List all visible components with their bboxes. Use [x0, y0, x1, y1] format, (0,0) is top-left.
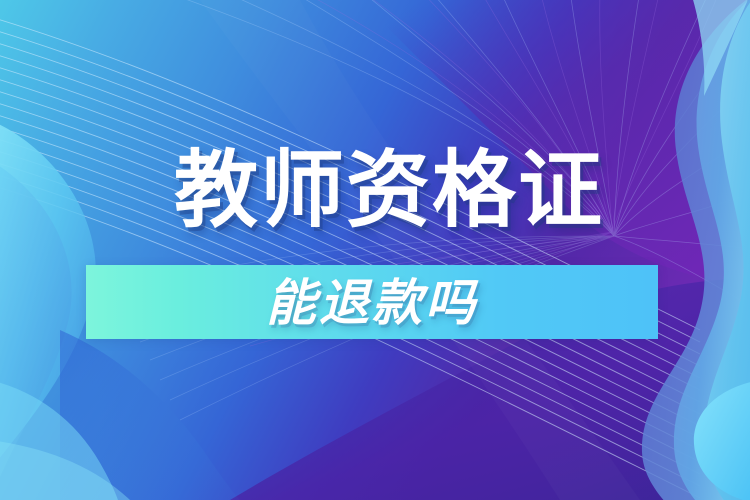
headline-container: 教师资格证 [0, 148, 750, 234]
background-artwork [0, 0, 750, 500]
page-title: 教师资格证 [174, 148, 604, 234]
subtitle-banner: 能退款吗 [86, 265, 658, 339]
promo-banner: 教师资格证 能退款吗 [0, 0, 750, 500]
subtitle-text: 能退款吗 [266, 278, 478, 328]
